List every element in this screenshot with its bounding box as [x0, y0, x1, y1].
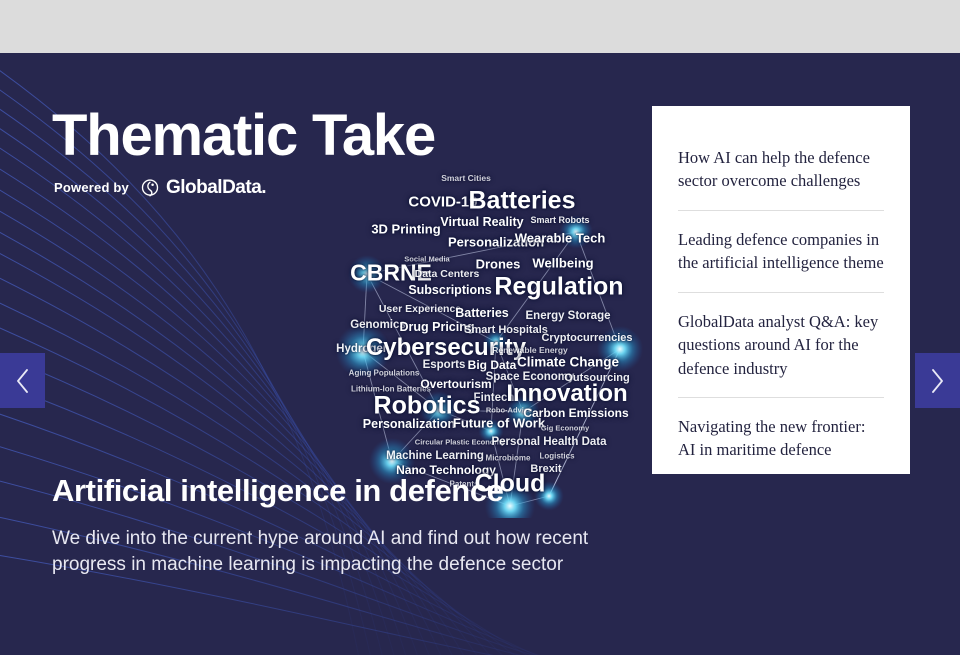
word-cloud-term: Overtourism [420, 377, 491, 391]
word-cloud-term: Innovation [506, 380, 627, 408]
word-cloud-term: Logistics [539, 452, 574, 461]
word-cloud-term: Gig Economy [541, 424, 589, 433]
carousel-prev-button[interactable] [0, 353, 45, 408]
carousel-next-button[interactable] [915, 353, 960, 408]
word-cloud-term: COVID-19 [408, 194, 477, 211]
feature-headline-block: Artificial intelligence in defence We di… [52, 473, 652, 578]
word-cloud-term: Energy Storage [526, 310, 611, 322]
word-cloud-term: Genomics [350, 319, 406, 331]
article-link[interactable]: Leading defence companies in the artific… [678, 210, 884, 292]
chevron-left-icon [15, 368, 30, 394]
word-cloud-term: Renewable Energy [492, 345, 568, 355]
article-link[interactable]: Navigating the new frontier: AI in marit… [678, 397, 884, 479]
word-cloud-term: Microbiome [486, 454, 531, 463]
word-cloud-term: Esports [423, 359, 466, 371]
globaldata-logo: GlobalData. [140, 177, 266, 199]
hero-stage: Thematic Take Powered by GlobalData. [0, 53, 960, 655]
word-cloud-term: Drones [476, 257, 521, 272]
word-cloud-term: Future of Work [453, 416, 545, 431]
word-cloud-term: Virtual Reality [440, 215, 523, 229]
globaldata-wordmark: GlobalData. [166, 177, 266, 199]
word-cloud-term: Data Centers [415, 268, 480, 280]
article-link[interactable]: GlobalData analyst Q&A: key questions ar… [678, 292, 884, 397]
word-cloud-term: Batteries [469, 187, 576, 216]
word-cloud-term: Wellbeing [532, 256, 593, 271]
word-cloud-term: Personal Health Data [491, 436, 606, 448]
word-cloud-term: Subscriptions [408, 283, 491, 297]
word-cloud-term: Wearable Tech [515, 231, 606, 246]
feature-standfirst: We dive into the current hype around AI … [52, 526, 652, 578]
word-cloud-term: Machine Learning [386, 450, 484, 462]
feature-headline: Artificial intelligence in defence [52, 473, 652, 509]
article-link[interactable]: How AI can help the defence sector overc… [678, 146, 884, 210]
word-cloud-term: Regulation [494, 273, 623, 302]
chevron-right-icon [930, 368, 945, 394]
word-cloud-term: Smart Robots [530, 215, 589, 225]
word-cloud-term: User Experience [379, 303, 461, 315]
word-cloud-term: Cryptocurrencies [541, 332, 632, 344]
word-cloud-term: 3D Printing [371, 222, 440, 237]
article-list-card: How AI can help the defence sector overc… [652, 106, 910, 474]
word-cloud-term: Personalization [363, 417, 455, 431]
globaldata-circle-icon [140, 178, 160, 198]
theme-word-cloud: Smart CitiesCOVID-19BatteriesSmart Robot… [330, 166, 650, 518]
top-bar [0, 0, 960, 53]
word-cloud-term: Smart Cities [441, 173, 491, 183]
word-cloud-term: Aging Populations [349, 369, 420, 378]
word-cloud-term: Climate Change [517, 355, 619, 370]
word-cloud-term: Big Data [468, 358, 517, 372]
word-cloud-term: Batteries [455, 306, 509, 320]
page-title: Thematic Take [52, 106, 435, 167]
powered-by-label: Powered by [54, 180, 129, 195]
